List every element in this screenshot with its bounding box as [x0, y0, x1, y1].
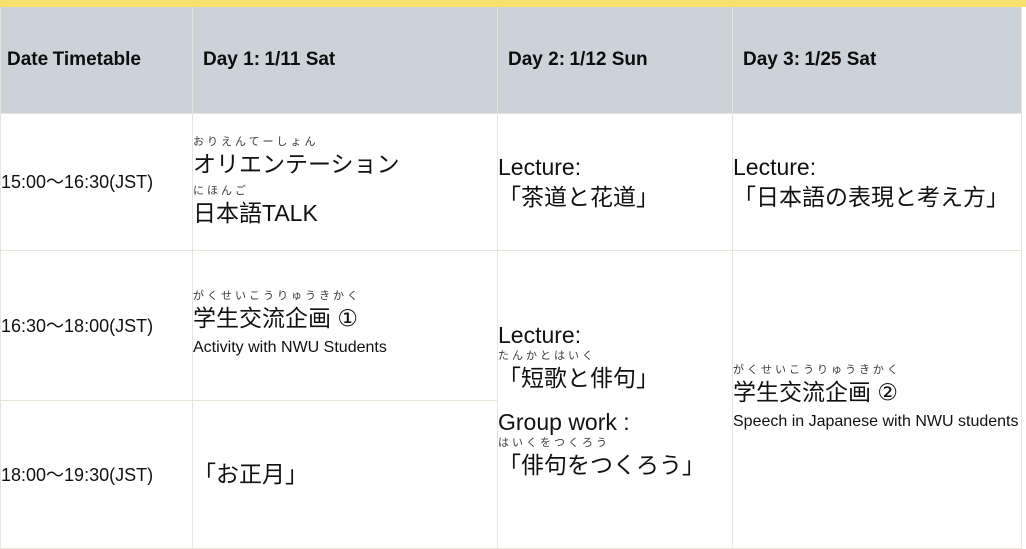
furigana: がくせいこうりゅうきかく [733, 364, 1021, 377]
furigana: たんかとはいく [498, 350, 732, 363]
header-day-1-date: 1/11 Sat [264, 49, 335, 70]
session-title: 「お正月」 [193, 459, 497, 490]
session-title: 「日本語の表現と考え方」 [733, 182, 1021, 212]
header-day-2-title: Day 2: [508, 49, 565, 70]
header-date-label: Date [7, 49, 48, 70]
session-day1-slot1: おりえんてーしょん オリエンテーション にほんご 日本語TALK [193, 114, 498, 251]
session-day2-slot2-3: Lecture: たんかとはいく 「短歌と俳句」 Group work : はい… [498, 251, 733, 549]
session-title: 日本語TALK [193, 198, 497, 228]
timetable-page: Date Timetable Day 1: 1/11 Sat Day 2: 1/… [0, 0, 1026, 545]
session-orientation: おりえんてーしょん オリエンテーション [193, 136, 497, 179]
session-kind: Lecture: [498, 320, 732, 350]
furigana: おりえんてーしょん [193, 136, 497, 149]
header-day-2-date: 1/12 Sun [569, 49, 647, 70]
session-student-exchange-1: がくせいこうりゅうきかく 学生交流企画 ① [193, 290, 497, 333]
session-tanka-haiku: たんかとはいく 「短歌と俳句」 [498, 350, 732, 393]
top-accent-strip [0, 0, 1026, 7]
header-day-3: Day 3: 1/25 Sat [733, 7, 1022, 114]
session-subtitle: Activity with NWU Students [193, 333, 497, 362]
session-kind: Lecture: [498, 152, 732, 182]
program-timetable: Date Timetable Day 1: 1/11 Sat Day 2: 1/… [0, 7, 1022, 549]
session-nihongo-talk: にほんご 日本語TALK [193, 185, 497, 228]
header-day-1: Day 1: 1/11 Sat [193, 7, 498, 114]
session-title: 学生交流企画 ① [193, 303, 497, 333]
session-day3-slot1: Lecture: 「日本語の表現と考え方」 [733, 114, 1022, 251]
session-title: オリエンテーション [193, 149, 497, 179]
header-day-3-title: Day 3: [743, 49, 800, 70]
spacer [498, 393, 732, 407]
session-kind: Lecture: [733, 152, 1021, 182]
header-day-3-date: 1/25 Sat [804, 49, 876, 70]
time-slot-2: 16:30〜18:00(JST) [1, 251, 193, 401]
furigana: がくせいこうりゅうきかく [193, 290, 497, 303]
session-title: 学生交流企画 ② [733, 377, 1021, 407]
header-date-timetable: Date Timetable [1, 7, 193, 114]
header-timetable-label: Timetable [53, 49, 141, 70]
session-title: 「短歌と俳句」 [498, 363, 732, 393]
session-day1-slot2: がくせいこうりゅうきかく 学生交流企画 ① Activity with NWU … [193, 251, 498, 401]
table-row: 15:00〜16:30(JST) おりえんてーしょん オリエンテーション にほん… [1, 114, 1022, 251]
session-kind: Group work : [498, 407, 732, 437]
header-day-2: Day 2: 1/12 Sun [498, 7, 733, 114]
time-slot-3: 18:00〜19:30(JST) [1, 401, 193, 549]
session-day3-slot2-3: がくせいこうりゅうきかく 学生交流企画 ② Speech in Japanese… [733, 251, 1022, 549]
session-make-haiku: はいくをつくろう 「俳句をつくろう」 [498, 437, 732, 480]
table-row: 16:30〜18:00(JST) がくせいこうりゅうきかく 学生交流企画 ① A… [1, 251, 1022, 401]
furigana: はいくをつくろう [498, 437, 732, 450]
furigana: にほんご [193, 185, 497, 198]
session-title: 「茶道と花道」 [498, 182, 732, 212]
table-header-row: Date Timetable Day 1: 1/11 Sat Day 2: 1/… [1, 7, 1022, 114]
session-day1-slot3: 「お正月」 [193, 401, 498, 549]
session-day2-slot1: Lecture: 「茶道と花道」 [498, 114, 733, 251]
session-title: 「俳句をつくろう」 [498, 450, 732, 480]
time-slot-1: 15:00〜16:30(JST) [1, 114, 193, 251]
session-subtitle: Speech in Japanese with NWU students [733, 407, 1021, 436]
session-student-exchange-2: がくせいこうりゅうきかく 学生交流企画 ② [733, 364, 1021, 407]
header-day-1-title: Day 1: [203, 49, 260, 70]
